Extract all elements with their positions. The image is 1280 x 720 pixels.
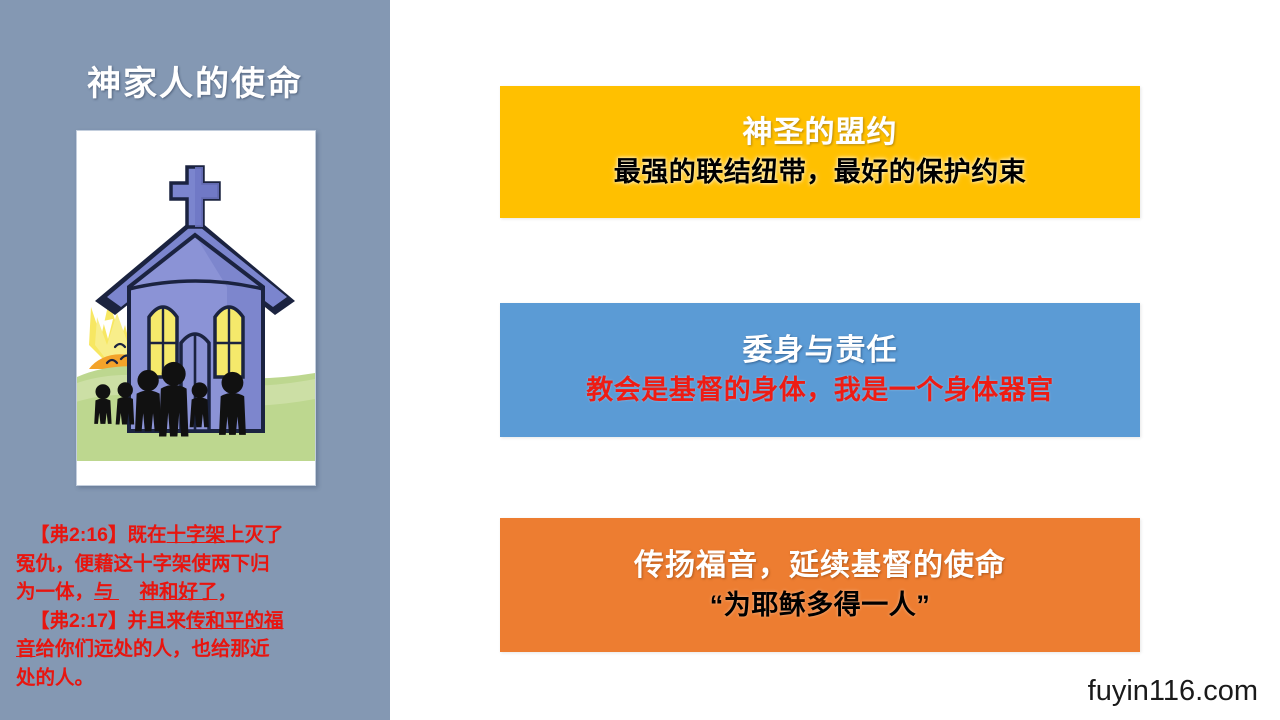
content-box-commitment-subtitle: 教会是基督的身体，我是一个身体器官 [586, 371, 1054, 409]
scripture-run: 为一体， [16, 581, 94, 603]
site-watermark: fuyin116.com [1088, 675, 1258, 708]
scripture-line: 为一体，与 神和好了， [16, 578, 376, 607]
scripture-run: 上灭了 [225, 524, 284, 546]
scripture-emphasis: 与 [94, 581, 114, 603]
scripture-line: 【弗2:16】既在十字架上灭了 [16, 521, 376, 550]
slide-canvas: 神家人的使命 [0, 0, 1280, 720]
scripture-emphasis: 传和平的福 [186, 610, 284, 632]
church-illustration-frame [76, 130, 316, 486]
content-box-mission-subtitle: “为耶稣多得一人” [710, 586, 931, 624]
scripture-emphasis [114, 578, 140, 607]
content-box-covenant[interactable]: 神圣的盟约 最强的联结纽带，最好的保护约束 [500, 86, 1140, 218]
scripture-run: 给你们远处的人，也给那近 [36, 638, 270, 660]
scripture-emphasis: 音 [16, 638, 36, 660]
scripture-run: 冤仇，便藉这十字架使两下归 [16, 553, 270, 575]
scripture-text: 【弗2:16】既在十字架上灭了冤仇，便藉这十字架使两下归为一体，与 神和好了，【… [16, 521, 376, 692]
scripture-line: 处的人。 [16, 664, 376, 693]
scripture-line: 冤仇，便藉这十字架使两下归 [16, 550, 376, 579]
scripture-emphasis: 十字架 [167, 524, 226, 546]
scripture-run: 【弗2:16】既在 [30, 524, 167, 546]
scripture-line: 【弗2:17】并且来传和平的福 [16, 607, 376, 636]
scripture-run: ， [218, 581, 238, 603]
content-box-commitment-heading: 委身与责任 [743, 331, 898, 371]
page-title: 神家人的使命 [0, 62, 390, 106]
content-box-covenant-heading: 神圣的盟约 [743, 113, 898, 153]
content-box-mission-heading: 传扬福音，延续基督的使命 [634, 546, 1006, 586]
scripture-run: 处的人。 [16, 667, 94, 689]
content-box-commitment[interactable]: 委身与责任 教会是基督的身体，我是一个身体器官 [500, 303, 1140, 437]
scripture-line: 音给你们远处的人，也给那近 [16, 635, 376, 664]
content-box-mission[interactable]: 传扬福音，延续基督的使命 “为耶稣多得一人” [500, 518, 1140, 652]
scripture-emphasis: 神和好了 [140, 581, 218, 603]
content-box-covenant-subtitle: 最强的联结纽带，最好的保护约束 [614, 153, 1027, 191]
sidebar-panel: 神家人的使命 [0, 0, 390, 720]
scripture-run: 【弗2:17】并且来 [30, 610, 186, 632]
church-illustration [77, 131, 315, 485]
